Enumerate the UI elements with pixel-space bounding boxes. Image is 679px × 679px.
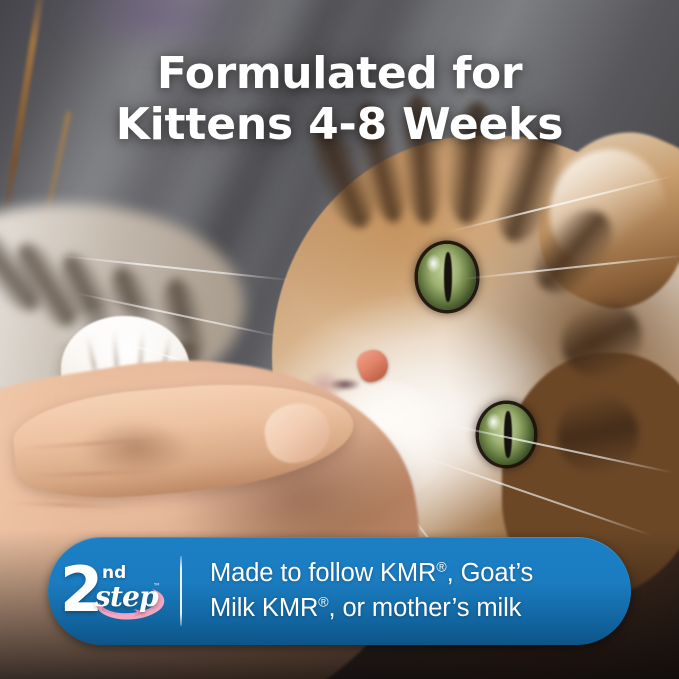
registered-mark-2: ® (318, 594, 328, 610)
kitten-pupil (504, 411, 511, 457)
kitten-eye-lower (479, 404, 535, 465)
kitten-pupil (444, 252, 452, 302)
registered-mark-1: ® (436, 559, 446, 575)
kitten-eye-glint (426, 254, 441, 274)
knuckle-shadow (81, 421, 190, 475)
banner-message-line-2: Milk KMR®, or mother’s milk (210, 591, 613, 626)
banner-line1-text-b: , Goat’s (447, 559, 534, 587)
badge-step-word: step (95, 580, 158, 613)
kitten-mouth (329, 378, 360, 392)
banner-line2-text-a: Milk KMR (210, 594, 318, 622)
second-step-badge: 2 nd step ™ (48, 537, 180, 645)
step-callout-banner: 2 nd step ™ Made to follow KMR®, Goat’s … (48, 537, 631, 645)
kitten-eye-glint (486, 413, 500, 431)
banner-line2-text-b: , or mother’s milk (329, 594, 522, 622)
page-title: Formulated for Kittens 4-8 Weeks (0, 48, 679, 150)
product-lifestyle-image: Formulated for Kittens 4-8 Weeks 2 nd st… (0, 0, 679, 679)
headline-line-1: Formulated for (0, 48, 679, 99)
headline-line-2: Kittens 4-8 Weeks (0, 99, 679, 150)
banner-message-line-1: Made to follow KMR®, Goat’s (210, 556, 613, 591)
banner-line1-text-a: Made to follow KMR (210, 559, 436, 587)
trademark-symbol: ™ (153, 582, 161, 591)
banner-message: Made to follow KMR®, Goat’s Milk KMR®, o… (182, 556, 631, 626)
